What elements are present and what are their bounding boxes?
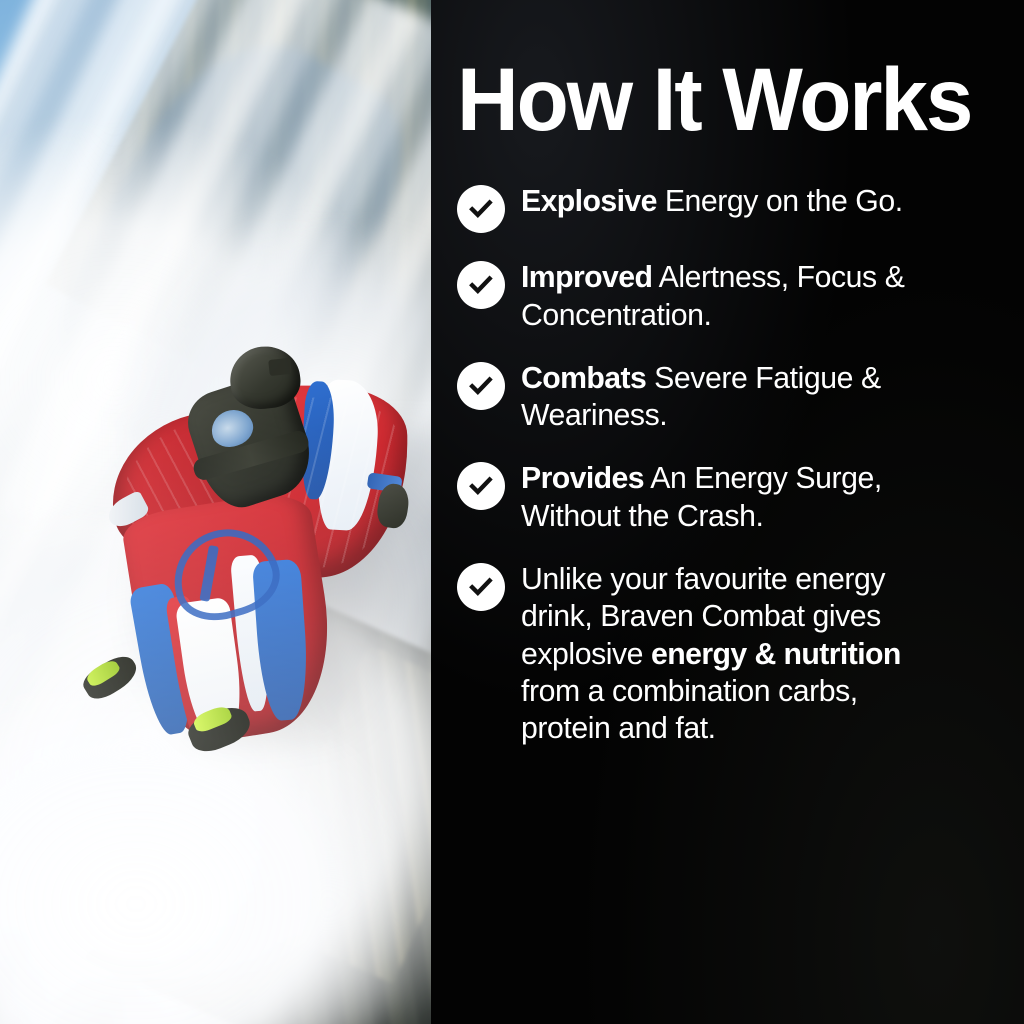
check-circle-icon (457, 261, 505, 309)
content-panel: How It Works Explosive Energy on the Go.… (431, 0, 1024, 1024)
check-circle-icon (457, 462, 505, 510)
list-item: Improved Alertness, Focus & Concentratio… (457, 258, 994, 334)
hero-photo (0, 0, 431, 1024)
benefit-text: Explosive Energy on the Go. (521, 182, 903, 220)
benefit-lead-word: Provides (521, 460, 644, 495)
benefits-list: Explosive Energy on the Go. Improved Ale… (457, 182, 994, 747)
check-circle-icon (457, 362, 505, 410)
benefit-text: Provides An Energy Surge, Without the Cr… (521, 459, 979, 535)
page-title: How It Works (457, 0, 973, 144)
infographic-root: How It Works Explosive Energy on the Go.… (0, 0, 1024, 1024)
list-item: Provides An Energy Surge, Without the Cr… (457, 459, 994, 535)
benefit-rest: Energy on the Go. (657, 183, 903, 218)
benefit-lead-word: Combats (521, 360, 646, 395)
atmospheric-haze (0, 0, 431, 1024)
list-item: Combats Severe Fatigue & Weariness. (457, 359, 994, 435)
benefit-text: Combats Severe Fatigue & Weariness. (521, 359, 979, 435)
benefit-lead-word: Explosive (521, 183, 657, 218)
list-item: Unlike your favourite energy drink, Brav… (457, 560, 994, 747)
benefit-lead-word: Improved (521, 259, 652, 294)
benefit-text: Unlike your favourite energy drink, Brav… (521, 560, 950, 747)
benefit-bold-phrase: energy & nutrition (651, 636, 901, 671)
benefit-text: Improved Alertness, Focus & Concentratio… (521, 258, 979, 334)
check-circle-icon (457, 563, 505, 611)
list-item: Explosive Energy on the Go. (457, 182, 994, 233)
benefit-rest: from a combination carbs, protein and fa… (521, 673, 858, 745)
check-circle-icon (457, 185, 505, 233)
